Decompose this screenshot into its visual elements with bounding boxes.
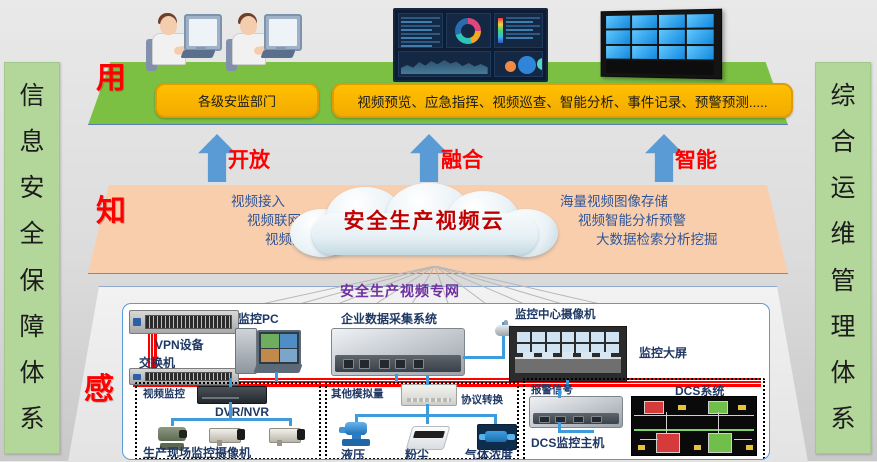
dashboard-heatmap-panel bbox=[494, 13, 543, 48]
heat-legend bbox=[498, 18, 503, 43]
analog-group-title: 其他模拟量 bbox=[331, 386, 384, 401]
right-banner-char: 理 bbox=[830, 315, 855, 340]
server-front-face bbox=[335, 355, 461, 372]
operator-figure bbox=[226, 6, 300, 76]
field-cameras-label: 生产现场监控摄像机 bbox=[143, 444, 251, 460]
cloud-left-item: 视频联网 bbox=[150, 211, 301, 230]
dashboard-grid bbox=[398, 13, 543, 77]
table-rows bbox=[401, 17, 440, 47]
pc-keyboard-icon bbox=[253, 364, 302, 373]
video-wall-base bbox=[606, 60, 714, 75]
functions-box[interactable]: 视频预览、应急指挥、视频巡查、智能分析、事件记录、预警预测..... bbox=[332, 83, 793, 118]
monitor-pc-label: 监控PC bbox=[238, 310, 279, 327]
camera-lens bbox=[237, 429, 245, 440]
heat-rows bbox=[506, 17, 540, 39]
right-banner-char: 合 bbox=[830, 130, 855, 155]
layer-marker-know: 知 bbox=[96, 197, 126, 227]
left-banner-char: 信 bbox=[19, 84, 44, 109]
arrow-label-intelligent: 智能 bbox=[675, 150, 717, 171]
sensor-label-dust: 粉尘 bbox=[405, 446, 429, 460]
video-wall-screens bbox=[606, 14, 714, 60]
hydraulic-sensor-icon bbox=[339, 422, 373, 448]
right-banner-char: 系 bbox=[830, 407, 855, 432]
left-banner-char: 障 bbox=[19, 315, 44, 340]
converter-downlink bbox=[426, 404, 429, 414]
pc-screen-tiles bbox=[261, 334, 297, 362]
sensor-label-hydraulic: 液压 bbox=[341, 446, 365, 460]
camera-mount bbox=[277, 440, 282, 446]
left-banner-char: 体 bbox=[19, 361, 44, 386]
analytics-dashboard-illustration bbox=[393, 8, 548, 82]
architecture-diagram: 信 息 安 全 保 障 体 系 综 合 运 维 管 理 体 系 用 知 感 bbox=[0, 0, 877, 461]
vpn-device-icon bbox=[129, 310, 239, 334]
right-banner-char: 运 bbox=[830, 176, 855, 201]
video-wall-illustration bbox=[601, 9, 722, 80]
right-banner-char: 管 bbox=[830, 269, 855, 294]
video-surveillance-title: 视频监控 bbox=[143, 386, 185, 401]
sensor-label-gas: 气体浓度 bbox=[465, 446, 513, 460]
operator-desk bbox=[515, 357, 622, 373]
camera-lens bbox=[297, 429, 305, 440]
head-shape bbox=[240, 16, 257, 35]
department-box[interactable]: 各级安监部门 bbox=[155, 83, 319, 118]
sparkline-chart bbox=[401, 54, 488, 74]
dashboard-bubble-panel bbox=[494, 51, 543, 77]
functions-label: 视频预览、应急指挥、视频巡查、智能分析、事件记录、预警预测..... bbox=[357, 91, 767, 111]
rack-ports bbox=[145, 372, 231, 382]
cloud-right-item: 视频智能分析预警 bbox=[578, 211, 775, 230]
dvr-nvr-label: DVR/NVR bbox=[215, 405, 269, 419]
arrow-label-open: 开放 bbox=[228, 150, 270, 171]
right-banner-char: 维 bbox=[830, 222, 855, 247]
monitor-wall bbox=[517, 332, 619, 353]
protocol-converter-label: 协议转换 bbox=[461, 392, 503, 407]
alarm-signal-label: 报警信号 bbox=[531, 382, 573, 397]
sensor-foot bbox=[342, 439, 370, 446]
left-banner-char: 保 bbox=[19, 269, 44, 294]
dvr-uplink bbox=[229, 378, 232, 387]
video-cloud-shape: 安全生产视频云 bbox=[290, 183, 558, 257]
layer-marker-use: 用 bbox=[96, 64, 126, 94]
operator-figure bbox=[146, 6, 220, 76]
rack-ports bbox=[145, 315, 231, 329]
left-banner-char: 系 bbox=[19, 407, 44, 432]
gas-body bbox=[485, 431, 507, 442]
head-shape bbox=[160, 16, 177, 35]
monitor-icon bbox=[264, 14, 302, 51]
vpn-device-label: VPN设备 bbox=[155, 336, 204, 353]
server-network-link bbox=[395, 374, 398, 382]
department-label: 各级安监部门 bbox=[198, 91, 276, 110]
dashboard-donut-panel bbox=[446, 13, 491, 48]
big-screen-label: 监控大屏 bbox=[639, 344, 687, 361]
dcs-scada-illustration bbox=[631, 396, 757, 456]
pc-monitor-icon bbox=[257, 330, 301, 366]
pc-tower-icon bbox=[235, 328, 257, 374]
dcs-host-label: DCS监控主机 bbox=[531, 434, 604, 451]
field-device-panel: VPN设备 交换机 监控PC 企业数据采集系统 监控中心摄像机 bbox=[122, 303, 770, 460]
operators-illustration bbox=[146, 6, 306, 78]
scada-canvas bbox=[634, 399, 754, 453]
dashboard-table-panel bbox=[398, 13, 443, 48]
server-front-face bbox=[533, 413, 619, 424]
alarm-link bbox=[558, 390, 561, 398]
left-banner-information-security: 信 息 安 全 保 障 体 系 bbox=[4, 62, 60, 454]
monitor-icon bbox=[184, 14, 222, 51]
dvr-nvr-icon bbox=[197, 386, 267, 404]
sensor-drop bbox=[494, 414, 497, 424]
converter-uplink bbox=[426, 376, 429, 385]
left-banner-char: 息 bbox=[19, 130, 44, 155]
left-banner-char: 安 bbox=[19, 176, 44, 201]
control-room-illustration bbox=[509, 326, 627, 382]
cloud-label: 安全生产视频云 bbox=[290, 205, 558, 235]
dashboard-trend-panel bbox=[398, 51, 491, 77]
protocol-converter-icon bbox=[401, 384, 457, 406]
arrow-label-converge: 融合 bbox=[441, 150, 483, 171]
rack-led bbox=[133, 374, 141, 380]
cloud-right-item: 大数据检索分析挖掘 bbox=[596, 230, 775, 249]
cloud-right-capabilities: 海量视频图像存储 视频智能分析预警 大数据检索分析挖掘 bbox=[560, 192, 775, 249]
data-collection-server-icon bbox=[331, 328, 465, 376]
donut-chart-icon bbox=[455, 18, 481, 44]
layer-marker-sense: 感 bbox=[84, 375, 114, 405]
right-banner-operations-management: 综 合 运 维 管 理 体 系 bbox=[815, 62, 871, 454]
gas-port-right bbox=[507, 434, 515, 440]
server-to-camera-link bbox=[463, 356, 505, 359]
data-collection-label: 企业数据采集系统 bbox=[341, 310, 437, 327]
center-camera-label: 监控中心摄像机 bbox=[515, 306, 596, 322]
rack-led bbox=[133, 318, 141, 327]
sensor-drop bbox=[426, 414, 429, 424]
left-banner-char: 全 bbox=[19, 222, 44, 247]
switch-device-label: 交换机 bbox=[139, 354, 175, 371]
cloud-left-item: 视频接入 bbox=[150, 192, 285, 211]
keyboard-icon bbox=[260, 50, 295, 58]
cloud-right-item: 海量视频图像存储 bbox=[560, 192, 775, 211]
private-network-label: 安全生产视频专网 bbox=[340, 281, 460, 301]
cloud-left-capabilities: 视频接入 视频联网 视频共享 bbox=[150, 192, 285, 249]
right-banner-char: 体 bbox=[830, 361, 855, 386]
dcs-host-bus bbox=[558, 430, 594, 433]
camera-drop bbox=[289, 418, 292, 426]
keyboard-icon bbox=[180, 50, 215, 58]
dcs-host-icon bbox=[529, 396, 623, 428]
camera-lens bbox=[179, 430, 187, 438]
pc-network-link bbox=[275, 372, 278, 382]
dvr-downlink bbox=[229, 402, 232, 419]
right-banner-char: 综 bbox=[830, 84, 855, 109]
